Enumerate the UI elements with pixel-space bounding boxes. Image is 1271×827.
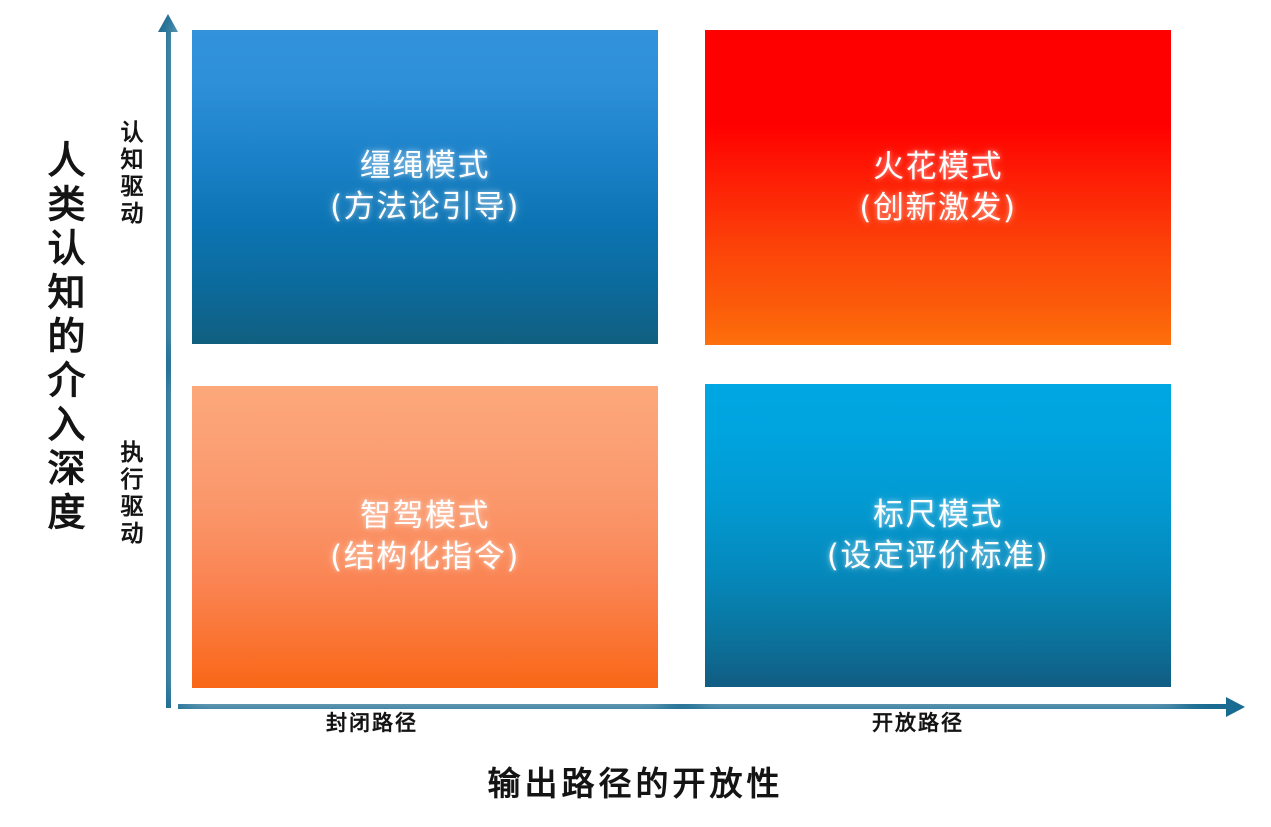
y-axis-line [166, 26, 171, 708]
x-axis-arrow-icon [1226, 697, 1245, 717]
y-axis-arrow-icon [158, 14, 178, 32]
quadrant-diagram-canvas: 人类认知的介入深度 认知驱动 执行驱动 缰绳模式 (方法论引导) 火花模式 (创… [0, 0, 1271, 827]
x-axis-tick-open: 开放路径 [872, 707, 964, 737]
quadrant-spark[interactable]: 火花模式 (创新激发) [705, 30, 1171, 345]
x-axis-title: 输出路径的开放性 [0, 757, 1271, 805]
quadrant-ruler[interactable]: 标尺模式 (设定评价标准) [705, 384, 1171, 687]
y-axis-title: 人类认知的介入深度 [36, 140, 91, 536]
y-axis-tier-cognitive: 认知驱动 [112, 120, 146, 228]
quadrant-reins-label: 缰绳模式 (方法论引导) [330, 146, 520, 228]
quadrant-autopilot-label: 智驾模式 (结构化指令) [330, 496, 520, 578]
y-axis-tier-execution: 执行驱动 [112, 440, 146, 548]
quadrant-autopilot[interactable]: 智驾模式 (结构化指令) [192, 386, 658, 688]
quadrant-reins[interactable]: 缰绳模式 (方法论引导) [192, 30, 658, 344]
quadrant-ruler-label: 标尺模式 (设定评价标准) [827, 495, 1049, 577]
x-axis-tick-closed: 封闭路径 [326, 707, 418, 737]
quadrant-spark-label: 火花模式 (创新激发) [859, 147, 1016, 229]
